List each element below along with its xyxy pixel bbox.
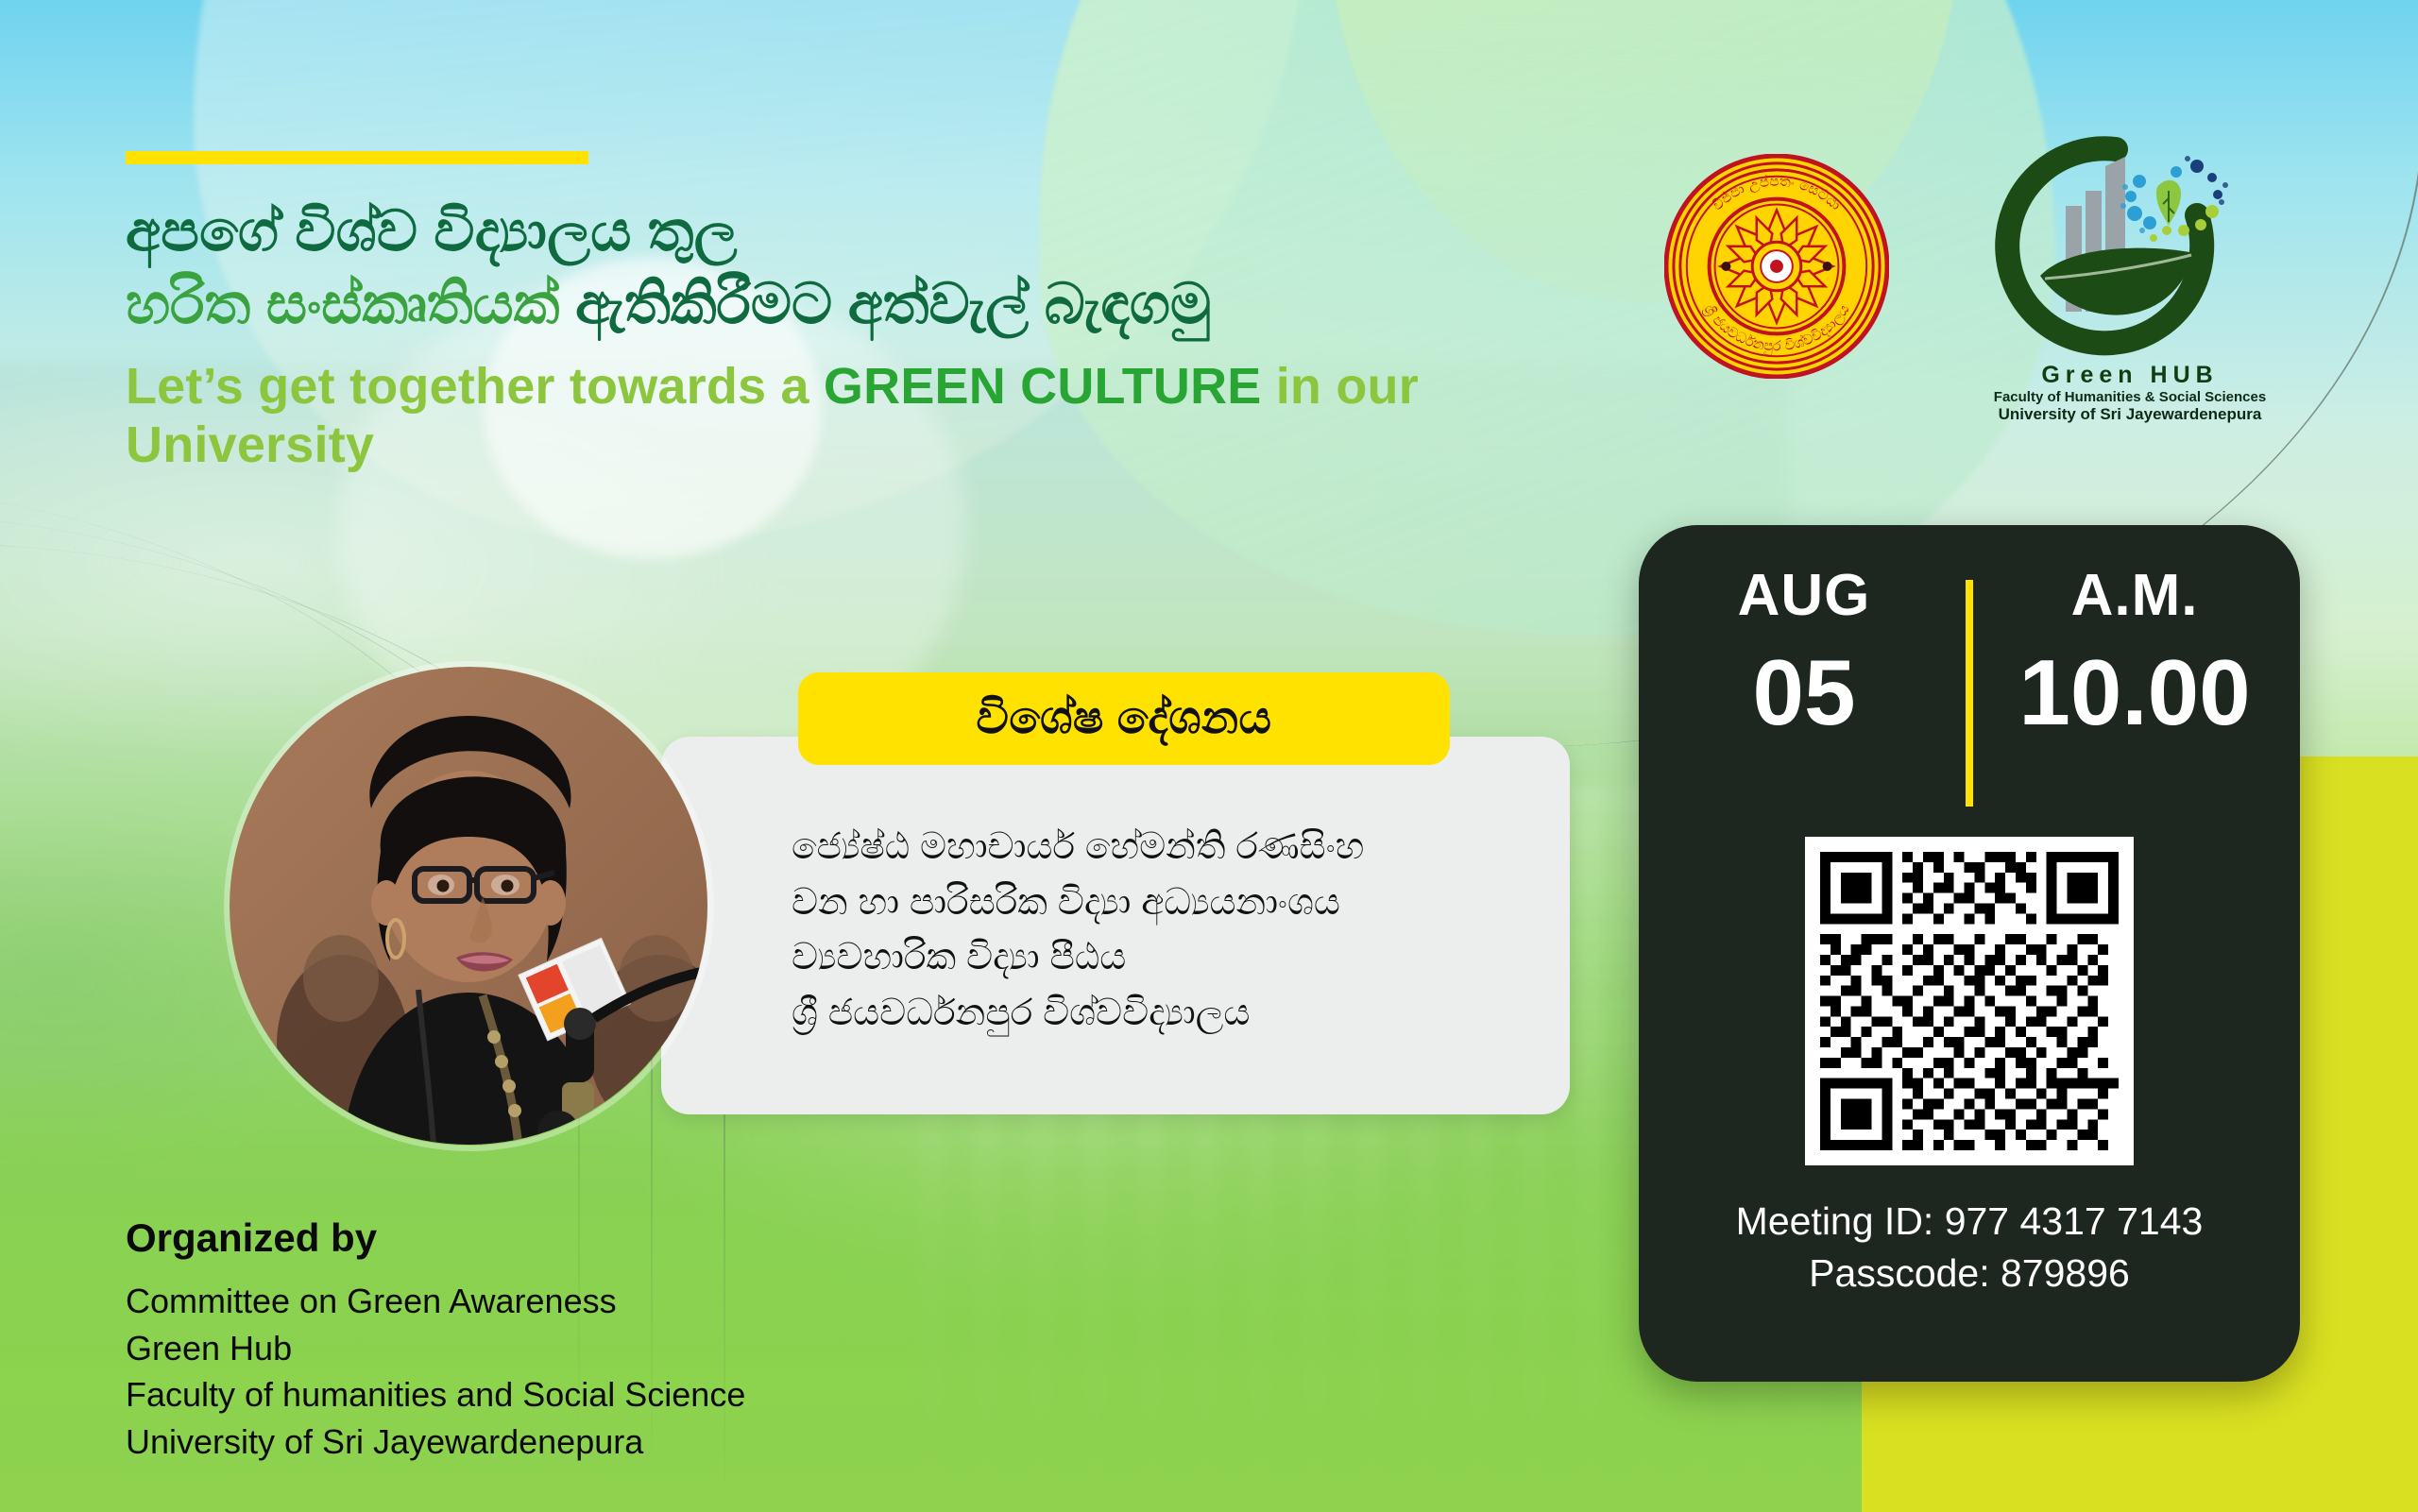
meeting-qr-code[interactable] <box>1805 837 2134 1165</box>
green-hub-icon <box>1974 132 2286 368</box>
speaker-name: ජ්‍යේෂ්ඨ මහාචාර්ය හේමන්ති රණසිංහ <box>792 820 1566 875</box>
poster-root: අපගේ විශ්ව විද්‍යාලය තුල හරිත සංස්කෘතියක… <box>0 0 2418 1512</box>
headline-sinhala-highlight: හරිත සංස්කෘතියක් <box>126 272 559 335</box>
speaker-university: ශ්‍රී ජයවර්ධනපුර විශ්වවිද්‍යාලය <box>792 986 1566 1042</box>
lecture-ribbon-label: විශේෂ දේශනය <box>976 692 1271 745</box>
headline-sinhala-line-1: අපගේ විශ්ව විද්‍යාලය තුල <box>126 198 1599 263</box>
yellow-rule-accent <box>126 151 588 164</box>
lecture-ribbon: විශේෂ දේශනය <box>798 672 1450 765</box>
date-time-row: AUG 05 A.M. 10.00 <box>1639 567 2300 774</box>
headline-sinhala-rest: ඇතිකිරීමට අත්වැල් බැඳගමු <box>559 272 1211 335</box>
time-column: A.M. 10.00 <box>1969 567 2300 774</box>
university-seal-icon: විජ්ජා උප්පතං සෙට්ඨා ශ්‍රී ජයවර්ධනපුර වි… <box>1664 154 1889 379</box>
speaker-faculty: ව්‍යවහාරික විද්‍යා පීඨය <box>792 930 1566 986</box>
meeting-id: Meeting ID: 977 4317 7143 <box>1639 1196 2300 1248</box>
green-hub-faculty: Faculty of Humanities & Social Sciences <box>1974 389 2286 405</box>
university-seal-logo: විජ්ජා උප්පතං සෙට්ඨා ශ්‍රී ජයවර්ධනපුර වි… <box>1664 154 1889 379</box>
green-hub-logo: Green HUB Faculty of Humanities & Social… <box>1974 132 2286 444</box>
qr-code-icon <box>1820 852 2119 1150</box>
event-time: 10.00 <box>1969 646 2300 739</box>
date-time-divider <box>1966 580 1973 807</box>
tagline-english: Let’s get together towards a GREEN CULTU… <box>126 357 1599 474</box>
meeting-passcode: Passcode: 879896 <box>1639 1248 2300 1300</box>
event-meridiem: A.M. <box>1969 567 2300 625</box>
speaker-department: වන හා පාරිසරික විද්‍යා අධ්‍යයනාංශය <box>792 875 1566 931</box>
headline-block: අපගේ විශ්ව විද්‍යාලය තුල හරිත සංස්කෘතියක… <box>126 198 1599 474</box>
speaker-portrait <box>230 667 708 1146</box>
event-month: AUG <box>1639 567 1969 625</box>
tagline-highlight: GREEN CULTURE <box>824 358 1262 415</box>
organizer-block: Organized by Committee on Green Awarenes… <box>126 1215 745 1466</box>
green-hub-university: University of Sri Jayewardenepura <box>1974 405 2286 424</box>
organizer-line-4: University of Sri Jayewardenepura <box>126 1419 745 1466</box>
headline-sinhala-line-2: හරිත සංස්කෘතියක් ඇතිකිරීමට අත්වැල් බැඳගම… <box>126 271 1599 336</box>
meeting-credentials: Meeting ID: 977 4317 7143 Passcode: 8798… <box>1639 1196 2300 1300</box>
event-details-card: AUG 05 A.M. 10.00 <box>1639 525 2300 1382</box>
tagline-lead: Let’s get together towards a <box>126 358 824 415</box>
date-column: AUG 05 <box>1639 567 1969 774</box>
organizer-line-2: Green Hub <box>126 1325 745 1372</box>
organizer-heading: Organized by <box>126 1215 745 1261</box>
organizer-line-3: Faculty of humanities and Social Science <box>126 1371 745 1419</box>
event-day: 05 <box>1639 646 1969 739</box>
speaker-photo-illustration <box>230 667 708 1146</box>
speaker-details: ජ්‍යේෂ්ඨ මහාචාර්ය හේමන්ති රණසිංහ වන හා ප… <box>792 820 1566 1041</box>
organizer-line-1: Committee on Green Awareness <box>126 1278 745 1325</box>
